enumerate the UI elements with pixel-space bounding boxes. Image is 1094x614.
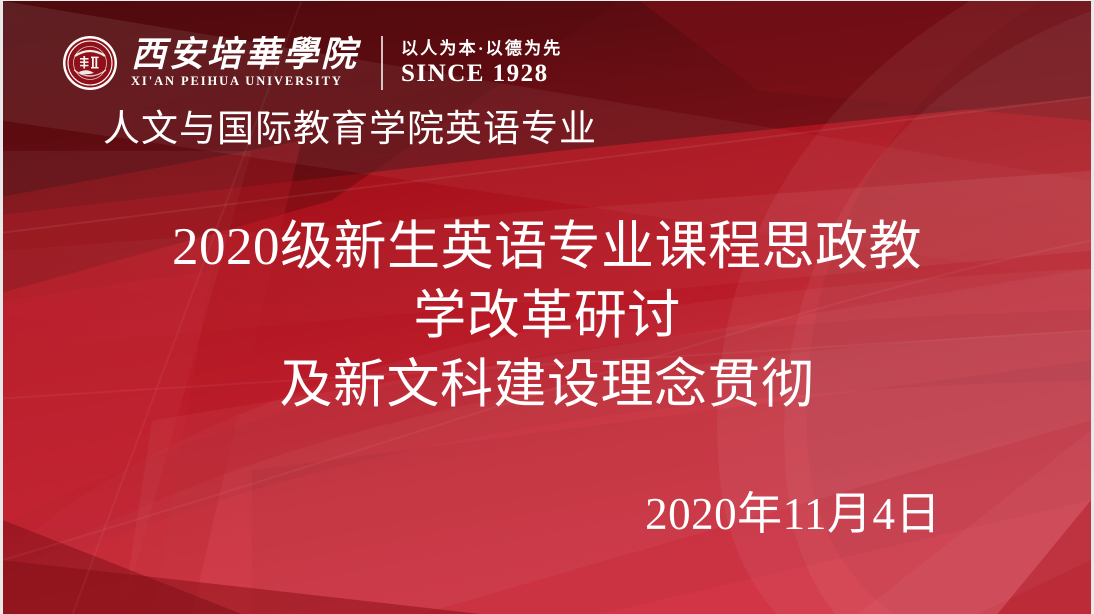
title-line-1: 2020级新生英语专业课程思政教 (43, 213, 1051, 282)
title-slide: 西安培華學院 XI'AN PEIHUA UNIVERSITY 以人为本·以德为先… (0, 0, 1094, 614)
department-subtitle: 人文与国际教育学院英语专业 (103, 107, 597, 153)
university-seal-icon (61, 34, 119, 92)
slide-title: 2020级新生英语专业课程思政教 学改革研讨 及新文科建设理念贯彻 (3, 213, 1091, 420)
university-motto: 以人为本·以德为先 SINCE 1928 (401, 39, 562, 87)
university-logo-lockup: 西安培華學院 XI'AN PEIHUA UNIVERSITY 以人为本·以德为先… (61, 29, 563, 97)
presentation-date: 2020年11月4日 (645, 487, 941, 541)
title-line-2: 学改革研讨 (43, 282, 1051, 351)
university-name-cn: 西安培華學院 (131, 37, 359, 73)
since-year-text: SINCE 1928 (401, 60, 562, 88)
university-wordmark: 西安培華學院 XI'AN PEIHUA UNIVERSITY (131, 37, 359, 88)
motto-text-cn: 以人为本·以德为先 (401, 39, 562, 59)
university-name-en: XI'AN PEIHUA UNIVERSITY (131, 75, 359, 89)
title-line-3: 及新文科建设理念贯彻 (43, 351, 1051, 420)
logo-divider (381, 36, 383, 90)
